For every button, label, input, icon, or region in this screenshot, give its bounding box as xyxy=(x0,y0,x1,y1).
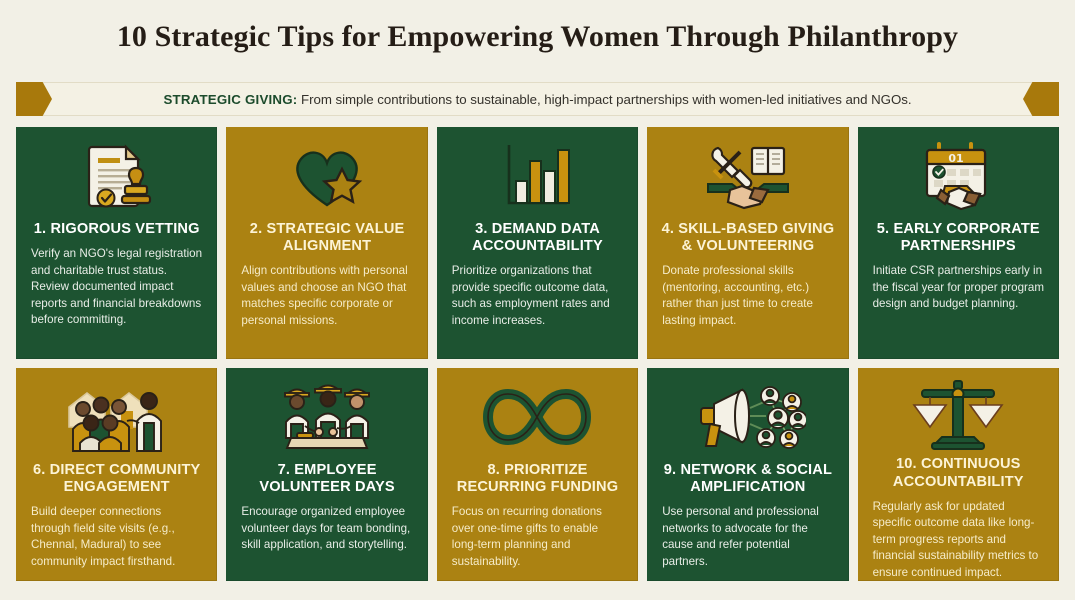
tip-card-title: 6. DIRECT COMMUNITY ENGAGEMENT xyxy=(29,462,204,496)
tip-card-body: Encourage organized employee volunteer d… xyxy=(239,504,414,553)
tools-book-handshake-icon xyxy=(702,135,794,217)
tip-card-4[interactable]: 4. SKILL-BASED GIVING & VOLUNTEERING Don… xyxy=(647,127,848,359)
bar-chart-icon xyxy=(497,135,577,217)
banner: STRATEGIC GIVING: From simple contributi… xyxy=(16,82,1059,116)
chevron-left-cap-icon xyxy=(1023,82,1059,116)
banner-text: STRATEGIC GIVING: From simple contributi… xyxy=(52,92,1023,107)
tip-card-9[interactable]: 9. NETWORK & SOCIAL AMPLIFICATION Use pe… xyxy=(647,368,848,581)
tip-card-title: 5. EARLY CORPORATE PARTNERSHIPS xyxy=(871,221,1046,255)
tip-card-10[interactable]: 10. CONTINUOUS ACCOUNTABILITY Regularly … xyxy=(858,368,1059,581)
banner-lead: STRATEGIC GIVING: xyxy=(163,92,297,107)
tip-card-5[interactable]: 01 5. EARLY CORPORATE PARTNERSHIPS Initi… xyxy=(858,127,1059,359)
svg-text:01: 01 xyxy=(949,152,964,165)
tip-card-body: Build deeper connections through field s… xyxy=(29,504,204,570)
tip-card-title: 2. STRATEGIC VALUE ALIGNMENT xyxy=(239,221,414,255)
balance-scales-icon xyxy=(910,376,1006,452)
tip-card-title: 7. EMPLOYEE VOLUNTEER DAYS xyxy=(239,462,414,496)
tip-card-6[interactable]: 6. DIRECT COMMUNITY ENGAGEMENT Build dee… xyxy=(16,368,217,581)
tip-card-body: Align contributions with personal values… xyxy=(239,263,414,329)
tip-card-title: 3. DEMAND DATA ACCOUNTABILITY xyxy=(450,221,625,255)
tip-card-body: Regularly ask for updated specific outco… xyxy=(871,499,1046,581)
tip-card-body: Initiate CSR partnerships early in the f… xyxy=(871,263,1046,312)
tip-card-1[interactable]: 1. RIGOROUS VETTING Verify an NGO's lega… xyxy=(16,127,217,359)
tip-card-title: 8. PRIORITIZE RECURRING FUNDING xyxy=(450,462,625,496)
heart-star-icon xyxy=(287,135,367,217)
tip-card-title: 1. RIGOROUS VETTING xyxy=(34,221,200,238)
page-title: 10 Strategic Tips for Empowering Women T… xyxy=(0,0,1075,52)
tip-card-body: Prioritize organizations that provide sp… xyxy=(450,263,625,329)
tip-card-body: Use personal and professional networks t… xyxy=(660,504,835,570)
infinity-icon xyxy=(481,376,593,458)
tip-card-8[interactable]: 8. PRIORITIZE RECURRING FUNDING Focus on… xyxy=(437,368,638,581)
tip-card-2[interactable]: 2. STRATEGIC VALUE ALIGNMENT Align contr… xyxy=(226,127,427,359)
community-group-icon xyxy=(61,376,173,458)
tip-card-7[interactable]: 7. EMPLOYEE VOLUNTEER DAYS Encourage org… xyxy=(226,368,427,581)
certificate-document-stamp-icon xyxy=(78,135,156,217)
volunteer-workers-icon xyxy=(275,376,379,458)
tips-grid: 1. RIGOROUS VETTING Verify an NGO's lega… xyxy=(16,127,1059,581)
megaphone-network-icon xyxy=(690,376,806,458)
tip-card-title: 10. CONTINUOUS ACCOUNTABILITY xyxy=(871,456,1046,490)
tip-card-3[interactable]: 3. DEMAND DATA ACCOUNTABILITY Prioritize… xyxy=(437,127,638,359)
banner-description: From simple contributions to sustainable… xyxy=(297,92,911,107)
tip-card-body: Focus on recurring donations over one-ti… xyxy=(450,504,625,570)
tip-card-body: Donate professional skills (mentoring, a… xyxy=(660,263,835,329)
chevron-right-cap-icon xyxy=(16,82,52,116)
tip-card-body: Verify an NGO's legal registration and c… xyxy=(29,246,204,328)
calendar-handshake-icon: 01 xyxy=(915,135,1001,217)
tip-card-title: 9. NETWORK & SOCIAL AMPLIFICATION xyxy=(660,462,835,496)
tip-card-title: 4. SKILL-BASED GIVING & VOLUNTEERING xyxy=(660,221,835,255)
